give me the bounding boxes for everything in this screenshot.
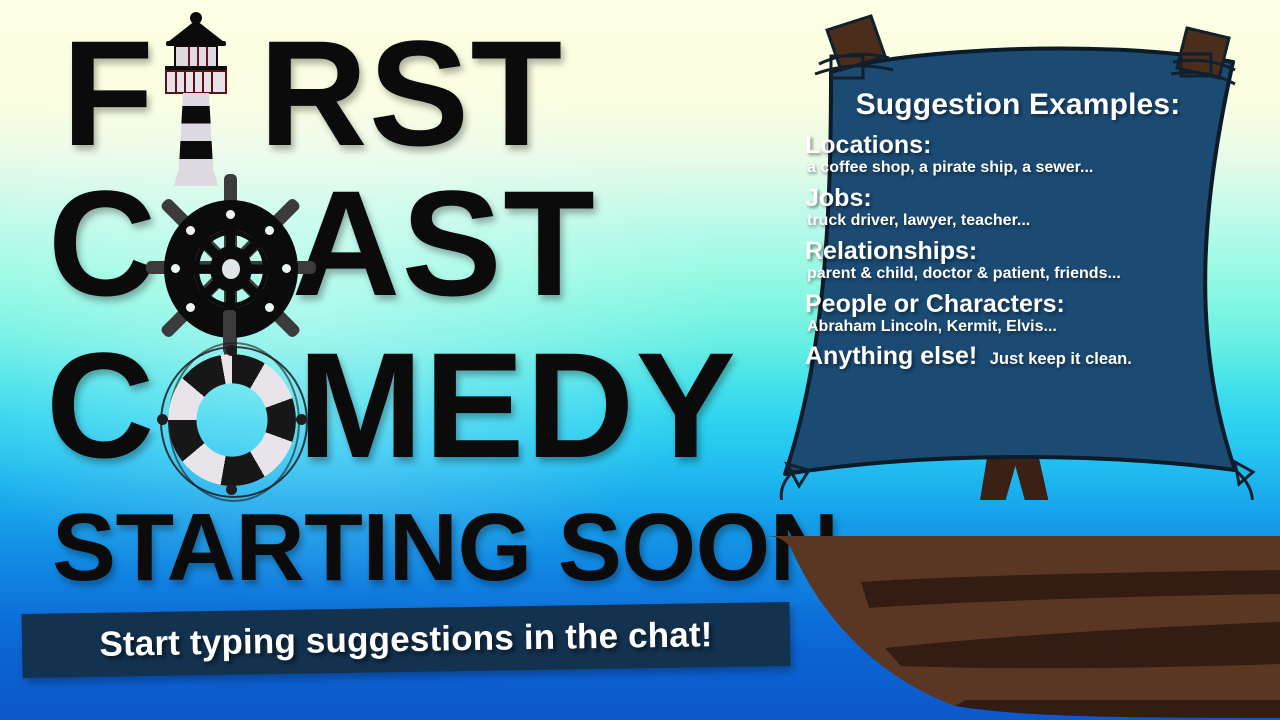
suggestion-examples-title: Suggestion Examples: — [811, 88, 1225, 122]
life-ring-grab-top — [226, 345, 237, 356]
category-heading: Relationships: — [805, 238, 1225, 264]
ship-hull — [765, 530, 1280, 720]
lighthouse-railing — [165, 70, 227, 94]
sail-grommet-bottom-right — [1235, 462, 1253, 484]
category-examples: a coffee shop, a pirate ship, a sewer... — [807, 159, 1225, 177]
suggestion-category-jobs: Jobs: truck driver, lawyer, teacher... — [805, 185, 1225, 230]
wheel-rim-dot — [265, 226, 274, 235]
suggestion-examples-panel: Suggestion Examples: Locations: a coffee… — [805, 88, 1225, 378]
wheel-rim-dot — [186, 303, 195, 312]
logo-line-starting-soon: STARTING SOON — [52, 500, 839, 596]
wheel-rim-dot — [265, 303, 274, 312]
category-heading: Locations: — [805, 132, 1225, 158]
suggestion-category-relationships: Relationships: parent & child, doctor & … — [805, 238, 1225, 283]
life-ring-body — [168, 354, 296, 486]
life-ring-icon — [158, 342, 306, 498]
logo-comedy-after: MEDY — [298, 330, 737, 480]
wheel-hub-center — [222, 259, 240, 279]
logo-comedy-before: C — [46, 330, 156, 480]
life-ring-grab-right — [296, 414, 307, 425]
life-ring-grab-left — [157, 414, 168, 425]
logo-coast-after: AST — [292, 168, 597, 318]
logo-first-after: RST — [259, 18, 564, 168]
logo-line-coast: CAST — [48, 168, 596, 318]
suggestion-category-anything-else: Anything else! Just keep it clean. — [805, 343, 1225, 369]
suggestion-category-locations: Locations: a coffee shop, a pirate ship,… — [805, 132, 1225, 177]
logo-coast-before: C — [48, 168, 158, 318]
category-examples: parent & child, doctor & patient, friend… — [807, 265, 1225, 283]
wheel-rim-dot — [186, 226, 195, 235]
lighthouse-lantern — [174, 45, 218, 68]
lighthouse-roof — [168, 20, 224, 42]
chat-call-to-action-banner: Start typing suggestions in the chat! — [22, 602, 791, 678]
pirate-ship-illustration: Suggestion Examples: Locations: a coffee… — [735, 0, 1280, 720]
wheel-rim-dot — [226, 210, 235, 219]
first-coast-comedy-logo: FRST CAST — [0, 0, 760, 620]
banner-text: Start typing suggestions in the chat! — [99, 615, 713, 665]
category-examples: Abraham Lincoln, Kermit, Elvis... — [807, 318, 1225, 336]
category-examples: Just keep it clean. — [990, 350, 1132, 368]
logo-line-comedy: CMEDY — [46, 330, 737, 480]
stream-starting-soon-screen: FRST CAST — [0, 0, 1280, 720]
suggestion-category-people: People or Characters: Abraham Lincoln, K… — [805, 291, 1225, 336]
wheel-rim-dot — [282, 264, 291, 273]
category-heading: Jobs: — [805, 185, 1225, 211]
hull-keel — [955, 700, 1280, 718]
hull-body — [765, 536, 1280, 706]
logo-line-first: FRST — [62, 18, 564, 168]
category-heading: People or Characters: — [805, 291, 1225, 317]
category-heading: Anything else! — [805, 342, 977, 370]
lighthouse-icon — [160, 6, 232, 186]
logo-first-before: F — [62, 18, 155, 168]
category-examples: truck driver, lawyer, teacher... — [807, 212, 1225, 230]
wheel-rim-dot — [171, 264, 180, 273]
